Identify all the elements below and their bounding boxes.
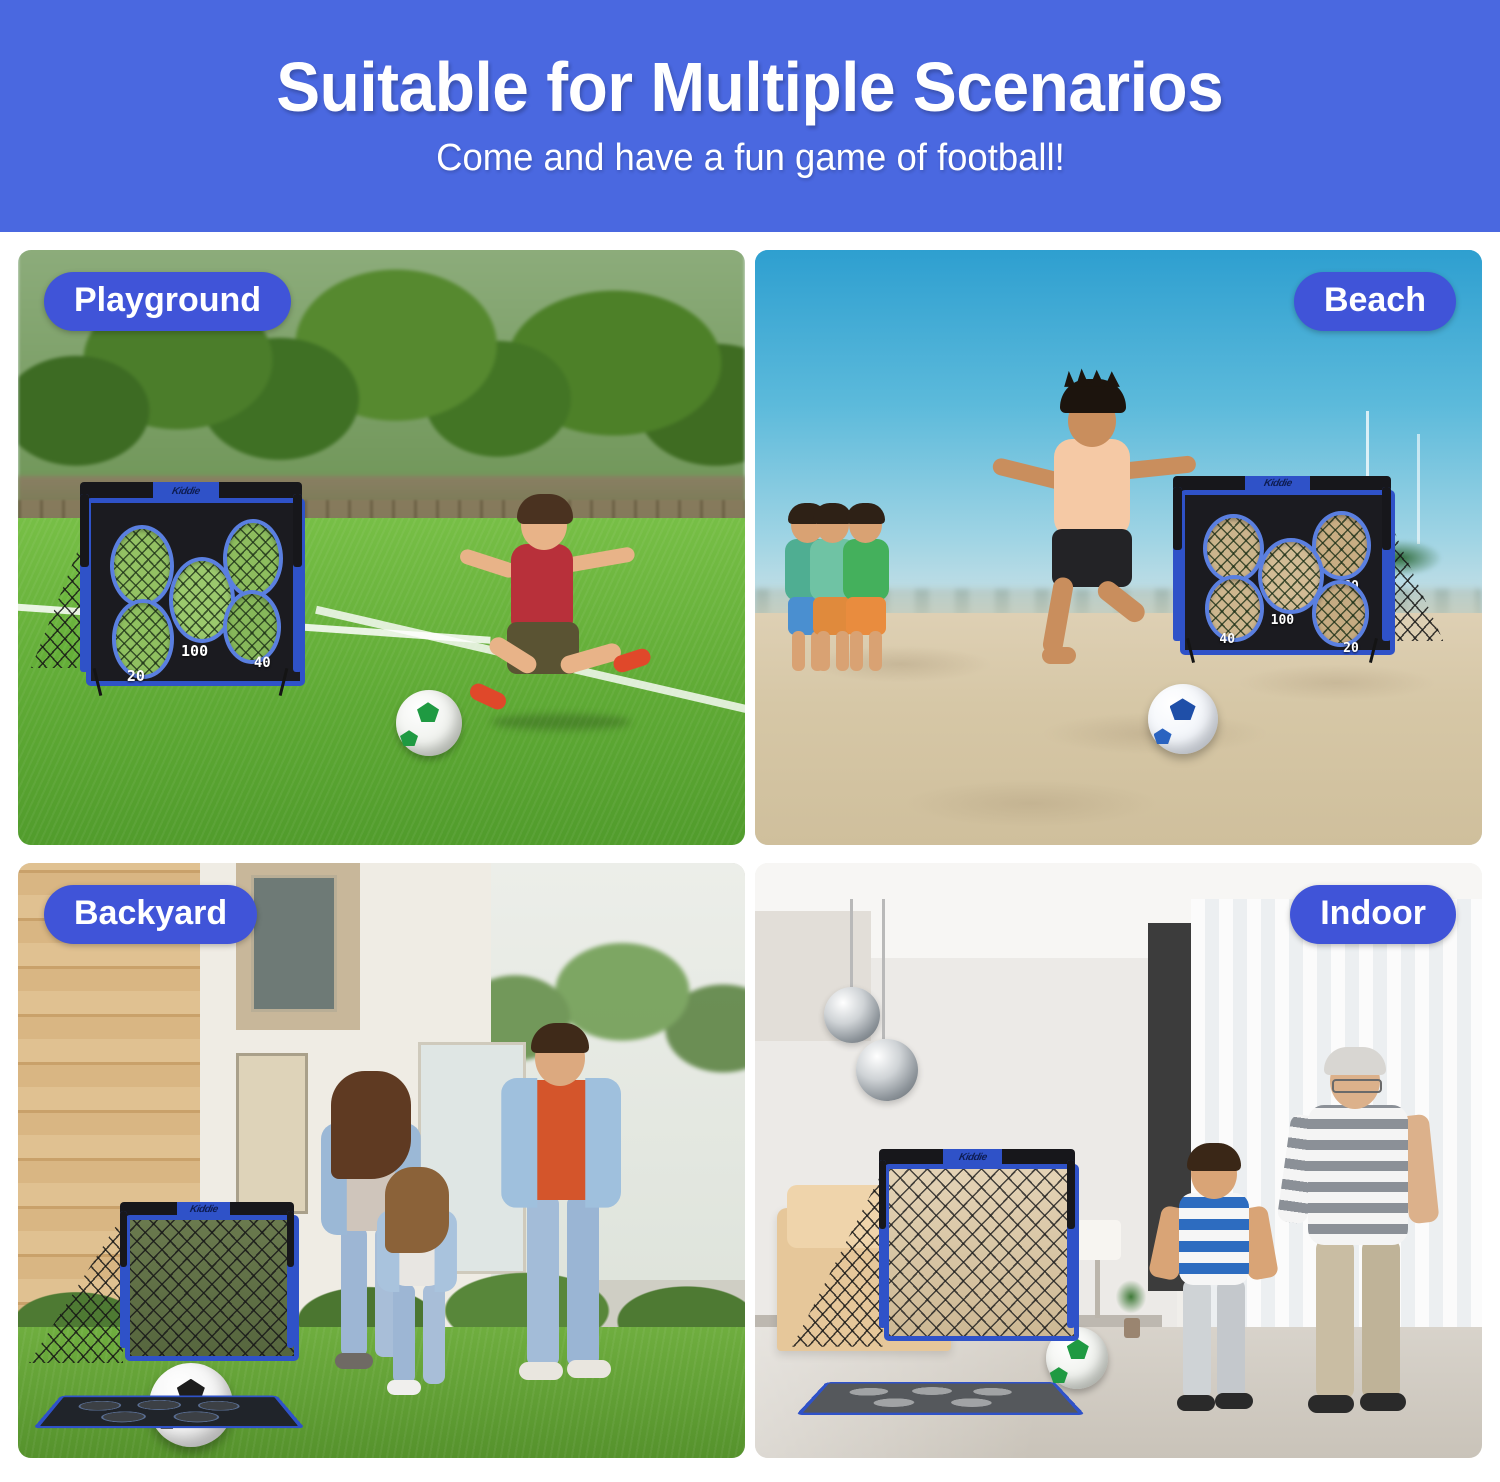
header-banner: Suitable for Multiple Scenarios Come and… (0, 0, 1500, 232)
goal-support-legs (66, 668, 314, 696)
shoe (1308, 1395, 1354, 1413)
window (251, 875, 337, 1012)
goal-top-bar: Kiddie (120, 1202, 294, 1216)
hair (846, 503, 885, 524)
shoe (1215, 1393, 1253, 1409)
leg (1316, 1239, 1354, 1399)
brand-logo-text: Kiddie (958, 1152, 988, 1163)
shorts (846, 597, 886, 635)
target-hole (98, 1411, 146, 1422)
lamp-globe (824, 987, 880, 1043)
target-score-100: 100 (1271, 613, 1294, 628)
hair (385, 1167, 449, 1253)
shoe (1177, 1395, 1215, 1411)
striped-polo (1179, 1193, 1249, 1285)
scenario-panel-backyard[interactable]: Kiddie Backyard (18, 863, 745, 1458)
goal-right-upper-post (1382, 487, 1391, 550)
target-panel-on-ground (796, 1383, 1085, 1416)
target-hole (848, 1388, 890, 1395)
floor-lamp (1075, 1220, 1121, 1260)
leg (527, 1196, 559, 1366)
shoe (567, 1360, 611, 1378)
target-hole (872, 1399, 916, 1408)
target-hole (173, 1411, 220, 1422)
leg (341, 1227, 367, 1357)
badge-playground[interactable]: Playground (44, 272, 291, 331)
leg (1183, 1279, 1211, 1399)
target-hole (75, 1401, 121, 1410)
arm (459, 547, 519, 579)
person-boy-watching (835, 507, 895, 667)
badge-backyard[interactable]: Backyard (44, 885, 257, 944)
goal-left-upper-post (879, 1160, 887, 1229)
goal-left-upper-post (120, 1211, 127, 1267)
target-hole (136, 1400, 181, 1410)
leg (567, 1196, 599, 1366)
torso (511, 544, 573, 630)
football-green-white (396, 690, 462, 756)
shoe (519, 1362, 563, 1380)
brand-logo-text: Kiddie (171, 486, 201, 497)
leg (1362, 1239, 1400, 1399)
goal-net (884, 1164, 1079, 1342)
window (236, 1053, 307, 1214)
lamp-globe (856, 1039, 918, 1101)
person-boy-kicking (461, 500, 651, 750)
person-grandfather (1278, 1053, 1438, 1453)
person-girl (367, 1172, 477, 1422)
target-hole-60 (110, 525, 174, 608)
goal-left-upper-post (80, 494, 89, 567)
goal-right-upper-post (293, 494, 302, 567)
goal-net (125, 1215, 299, 1361)
pendant-lamp (882, 899, 885, 1039)
potted-plant (1111, 1280, 1151, 1336)
hair (1324, 1047, 1386, 1075)
target-hole (911, 1387, 952, 1395)
foot (1042, 647, 1076, 664)
person-boy (1155, 1149, 1285, 1449)
brand-logo-text: Kiddie (1263, 478, 1293, 489)
arm (565, 546, 637, 573)
badge-indoor[interactable]: Indoor (1290, 885, 1456, 944)
torso (1054, 439, 1130, 537)
goal-right-upper-post (287, 1211, 294, 1267)
scenario-panel-beach[interactable]: Kiddie 80 60 100 40 20 (755, 250, 1482, 845)
scenario-grid: Kiddie 60 80 100 20 40 (18, 250, 1482, 1462)
mast (1417, 434, 1420, 544)
leg (850, 631, 863, 671)
leg (1042, 576, 1075, 656)
leg (817, 631, 830, 671)
badge-beach[interactable]: Beach (1294, 272, 1456, 331)
product-goal-with-target: Kiddie 60 80 100 20 40 (80, 482, 302, 684)
leg (1217, 1279, 1245, 1399)
scenario-panel-playground[interactable]: Kiddie 60 80 100 20 40 (18, 250, 745, 845)
shoe (387, 1380, 421, 1395)
target-score-100: 100 (181, 642, 208, 660)
leg (869, 631, 882, 671)
product-goal-with-target: Kiddie 80 60 100 40 20 (1173, 476, 1391, 652)
hair (331, 1071, 411, 1179)
product-goal-folded: Kiddie (879, 1149, 1075, 1339)
leg (393, 1284, 415, 1384)
target-board: 80 60 100 40 20 (1180, 490, 1395, 654)
target-hole (197, 1401, 242, 1410)
shoe (1360, 1393, 1406, 1411)
brand-logo-text: Kiddie (189, 1204, 219, 1215)
scenario-panel-indoor[interactable]: Kiddie Indoor (755, 863, 1482, 1458)
hair (1060, 379, 1126, 413)
target-hole (973, 1388, 1014, 1395)
goal-support-legs (1160, 638, 1404, 663)
target-board: 60 80 100 20 40 (86, 498, 304, 686)
shoe (468, 681, 510, 712)
pendant-lamp (850, 899, 853, 987)
target-hole-80 (1203, 514, 1264, 584)
striped-tee (1308, 1105, 1408, 1245)
person-father (483, 1030, 643, 1430)
glasses-icon (1332, 1079, 1382, 1093)
page-subtitle: Come and have a fun game of football! (436, 138, 1065, 180)
target-panel-on-ground (33, 1395, 305, 1428)
shadow (491, 714, 631, 730)
shirt (843, 539, 889, 601)
goal-right-upper-post (1067, 1160, 1075, 1229)
goal-left-upper-post (1173, 487, 1182, 550)
football-blue-white (1148, 684, 1218, 754)
target-hole (950, 1399, 993, 1408)
target-hole-40 (223, 590, 281, 664)
leg (423, 1284, 445, 1384)
brand-logo: Kiddie (177, 1202, 229, 1216)
page-title: Suitable for Multiple Scenarios (276, 52, 1223, 123)
product-goal-folded: Kiddie (120, 1202, 294, 1357)
